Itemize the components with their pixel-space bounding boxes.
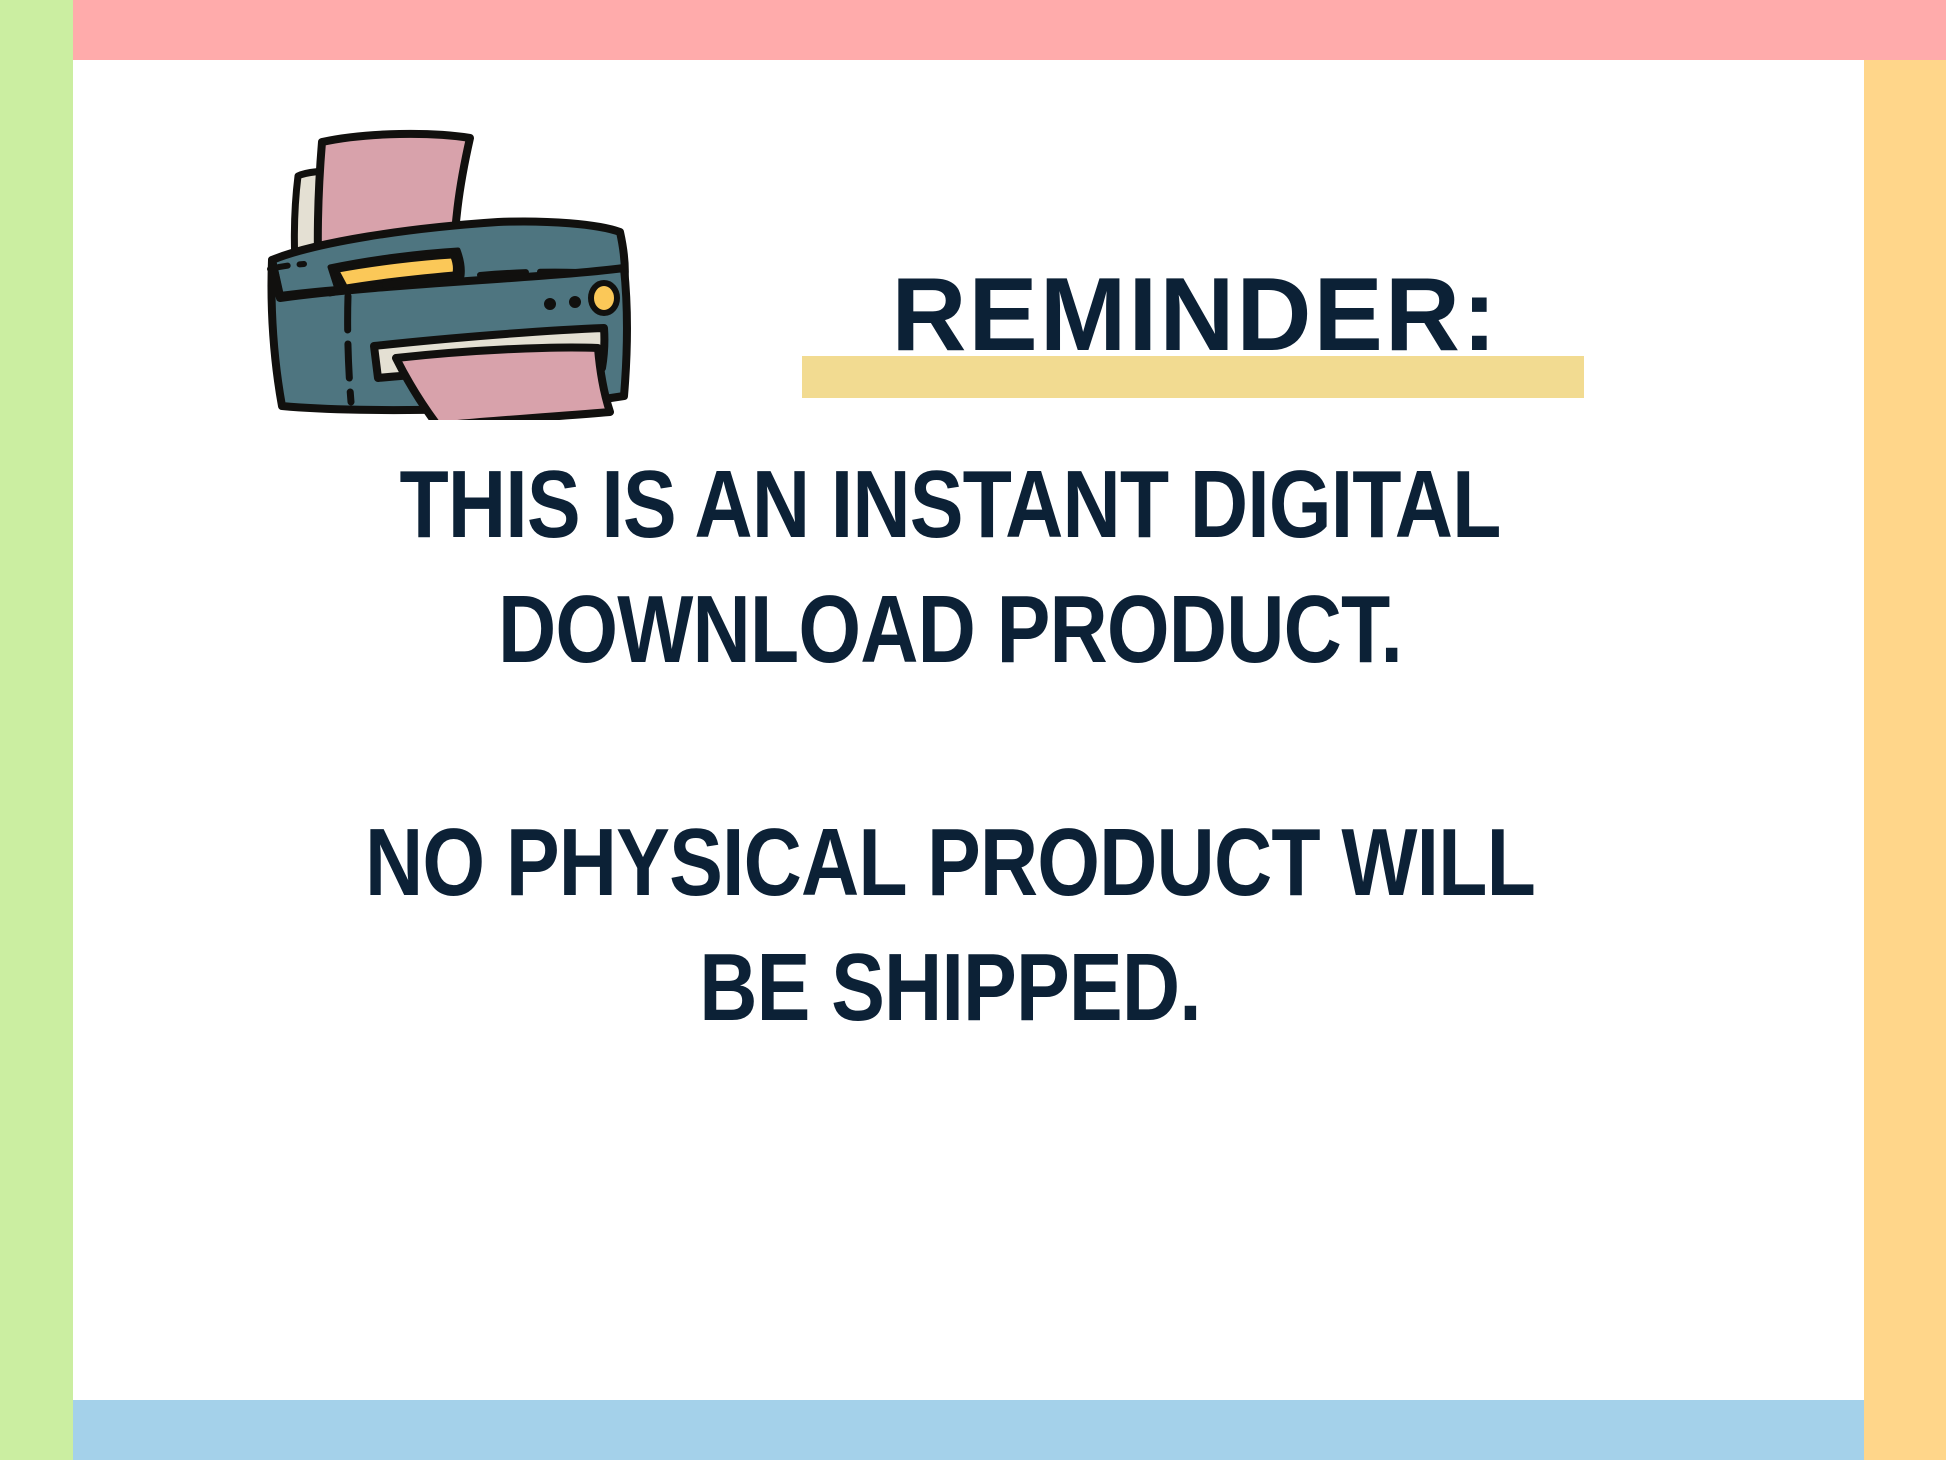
- paragraph-line: THIS IS AN INSTANT DIGITAL: [244, 442, 1655, 567]
- right-yellow-border-band: [1864, 60, 1946, 1460]
- paragraph-line: BE SHIPPED.: [244, 925, 1655, 1050]
- heading-block: REMINDER:: [800, 225, 1590, 405]
- paragraph-line: NO PHYSICAL PRODUCT WILL: [244, 800, 1655, 925]
- poster-canvas: REMINDER: THIS IS AN INSTANT DIGITAL DOW…: [0, 0, 1946, 1460]
- left-green-border-band: [0, 0, 73, 1460]
- paragraph-no-physical-product: NO PHYSICAL PRODUCT WILL BE SHIPPED.: [244, 800, 1655, 1050]
- top-pink-border-band: [0, 0, 1946, 60]
- paragraph-line: DOWNLOAD PRODUCT.: [244, 567, 1655, 692]
- printer-illustration: [248, 110, 668, 420]
- page-title: REMINDER:: [800, 225, 1590, 405]
- bottom-blue-border-band: [0, 1400, 1866, 1460]
- paragraph-instant-download: THIS IS AN INSTANT DIGITAL DOWNLOAD PROD…: [244, 442, 1655, 692]
